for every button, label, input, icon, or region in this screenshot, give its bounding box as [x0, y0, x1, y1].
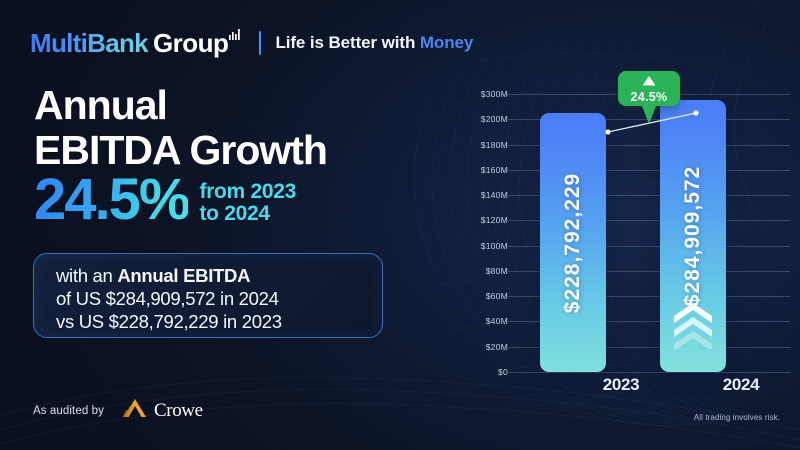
x-axis-labels: 20232024 — [508, 375, 790, 405]
y-axis-tick-label: $200M — [481, 114, 508, 124]
x-axis-tick-label: 2024 — [723, 375, 760, 395]
y-axis-tick-label: $300M — [481, 89, 508, 99]
growth-period-line-2: to 2024 — [199, 203, 296, 225]
detail-line-2: of US $284,909,572 in 2024 — [56, 287, 382, 310]
growth-badge-pointer — [642, 106, 656, 124]
y-axis-tick-label: $140M — [481, 190, 508, 200]
growth-badge-value: 24.5% — [631, 91, 668, 104]
gridline — [508, 372, 790, 373]
ebitda-detail-box: with an Annual EBITDA of US $284,909,572… — [33, 253, 383, 338]
risk-disclaimer: All trading involves risk. — [694, 413, 780, 422]
bar-2024[interactable]: $284,909,572 — [660, 100, 726, 372]
detail-line-1-plain: with an — [56, 265, 117, 286]
crowe-chevron-icon — [122, 398, 148, 423]
tagline-accent: Money — [420, 33, 473, 52]
auditor-name: Crowe — [154, 400, 203, 422]
growth-badge[interactable]: 24.5% — [618, 71, 680, 106]
logo-group-text: Group — [153, 28, 229, 59]
bar-2024-value-label: $284,909,572 — [681, 166, 705, 306]
bar-2023-value-label: $228,792,229 — [561, 172, 585, 312]
detail-line-1: with an Annual EBITDA — [56, 264, 382, 287]
multibank-group-logo[interactable]: MultiBank Group — [30, 28, 242, 59]
y-axis-tick-label: $20M — [486, 342, 508, 352]
logo-multibank-text: MultiBank — [30, 28, 148, 59]
detail-line-3: vs US $228,792,229 in 2023 — [56, 310, 382, 333]
tagline-prefix: Life is Better with — [275, 33, 419, 52]
infographic-canvas: MultiBank Group Life is Better with Mone… — [0, 0, 800, 450]
brand-tagline: Life is Better with Money — [275, 33, 473, 53]
headline-line-1: Annual — [34, 83, 327, 128]
growth-percent-value: 24.5% — [34, 172, 188, 228]
y-axis-tick-label: $100M — [481, 241, 508, 251]
audited-by-label: As audited by — [33, 405, 104, 417]
triangle-up-icon — [642, 73, 656, 91]
bar-2023[interactable]: $228,792,229 — [540, 113, 606, 372]
chevron-up-stack-icon — [672, 303, 714, 354]
y-axis-tick-label: $160M — [481, 165, 508, 175]
header-divider — [259, 31, 261, 55]
y-axis-tick-label: $0 — [498, 367, 508, 377]
auditor-credit: As audited by Crowe — [33, 398, 203, 423]
y-axis-tick-label: $40M — [486, 316, 508, 326]
bars-chart-icon — [229, 29, 242, 47]
growth-period-label: from 2023 to 2024 — [199, 181, 296, 225]
growth-period-line-1: from 2023 — [199, 181, 296, 203]
page-title: Annual EBITDA Growth — [34, 83, 327, 173]
y-axis-tick-label: $120M — [481, 215, 508, 225]
y-axis-tick-label: $80M — [486, 266, 508, 276]
growth-percent-row: 24.5% from 2023 to 2024 — [34, 172, 296, 228]
y-axis-labels: $300M$200M$180M$160M$140M$120M$100M$80M$… — [460, 80, 508, 372]
y-axis-tick-label: $60M — [486, 291, 508, 301]
y-axis-tick-label: $180M — [481, 140, 508, 150]
detail-line-1-bold: Annual EBITDA — [117, 265, 250, 286]
ebitda-bar-chart: $300M$200M$180M$160M$140M$120M$100M$80M$… — [460, 80, 790, 390]
x-axis-tick-label: 2023 — [603, 375, 640, 395]
brand-header: MultiBank Group Life is Better with Mone… — [30, 26, 473, 60]
